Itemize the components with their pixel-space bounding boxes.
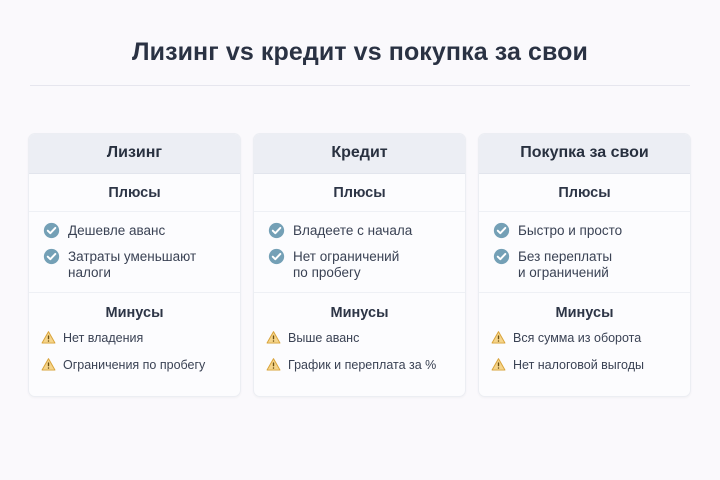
cons-section-title: Минусы <box>254 292 465 327</box>
cons-section-title: Минусы <box>29 292 240 327</box>
check-circle-icon <box>43 248 60 265</box>
comparison-card-leasing: Лизинг Плюсы Дешевле аванс Затраты умень… <box>28 133 241 397</box>
card-title: Кредит <box>254 134 465 174</box>
pros-section-title: Плюсы <box>254 174 465 212</box>
pros-section-title: Плюсы <box>29 174 240 212</box>
comparison-card-credit: Кредит Плюсы Владеете с начала Нет огран… <box>253 133 466 397</box>
list-item: Владеете с начала <box>268 222 453 239</box>
list-item-label: Нет ограничений по пробегу <box>293 248 399 280</box>
list-item: Ограничения по пробегу <box>41 356 230 373</box>
list-item: Дешевле аванс <box>43 222 228 239</box>
list-item-label: Вся сумма из оборота <box>513 329 641 346</box>
list-item-label: Владеете с начала <box>293 222 412 239</box>
warning-triangle-icon <box>491 357 506 372</box>
list-item-label: Нет владения <box>63 329 143 346</box>
pros-list: Дешевле аванс Затраты уменьшают налоги <box>29 212 240 292</box>
comparison-card-grid: Лизинг Плюсы Дешевле аванс Затраты умень… <box>28 133 692 397</box>
pros-section-title: Плюсы <box>479 174 690 212</box>
list-item: Нет владения <box>41 329 230 346</box>
list-item-label: Выше аванс <box>288 329 359 346</box>
list-item: Быстро и просто <box>493 222 678 239</box>
list-item-label: Нет налоговой выгоды <box>513 356 644 373</box>
card-title: Покупка за свои <box>479 134 690 174</box>
cons-list: Нет владения Ограничения по пробегу <box>29 327 240 396</box>
title-divider <box>30 85 690 86</box>
check-circle-icon <box>493 222 510 239</box>
check-circle-icon <box>268 222 285 239</box>
list-item: Вся сумма из оборота <box>491 329 680 346</box>
list-item-label: Быстро и просто <box>518 222 622 239</box>
warning-triangle-icon <box>41 330 56 345</box>
list-item: Нет ограничений по пробегу <box>268 248 453 280</box>
list-item-label: График и переплата за % <box>288 356 436 373</box>
list-item: Без переплаты и ограничений <box>493 248 678 280</box>
warning-triangle-icon <box>266 330 281 345</box>
list-item: График и переплата за % <box>266 356 455 373</box>
cons-section-title: Минусы <box>479 292 690 327</box>
card-title: Лизинг <box>29 134 240 174</box>
list-item-label: Затраты уменьшают налоги <box>68 248 196 280</box>
list-item: Нет налоговой выгоды <box>491 356 680 373</box>
page-title: Лизинг vs кредит vs покупка за свои <box>0 38 720 67</box>
cons-list: Выше аванс График и переплата за % <box>254 327 465 396</box>
warning-triangle-icon <box>41 357 56 372</box>
check-circle-icon <box>493 248 510 265</box>
infographic-page: Лизинг vs кредит vs покупка за свои Лизи… <box>0 0 720 480</box>
pros-list: Владеете с начала Нет ограничений по про… <box>254 212 465 292</box>
warning-triangle-icon <box>266 357 281 372</box>
check-circle-icon <box>43 222 60 239</box>
list-item-label: Ограничения по пробегу <box>63 356 205 373</box>
list-item-label: Без переплаты и ограничений <box>518 248 612 280</box>
list-item: Выше аванс <box>266 329 455 346</box>
check-circle-icon <box>268 248 285 265</box>
list-item-label: Дешевле аванс <box>68 222 165 239</box>
cons-list: Вся сумма из оборота Нет налоговой выгод… <box>479 327 690 396</box>
list-item: Затраты уменьшают налоги <box>43 248 228 280</box>
warning-triangle-icon <box>491 330 506 345</box>
comparison-card-cash-purchase: Покупка за свои Плюсы Быстро и просто Бе… <box>478 133 691 397</box>
pros-list: Быстро и просто Без переплаты и ограниче… <box>479 212 690 292</box>
